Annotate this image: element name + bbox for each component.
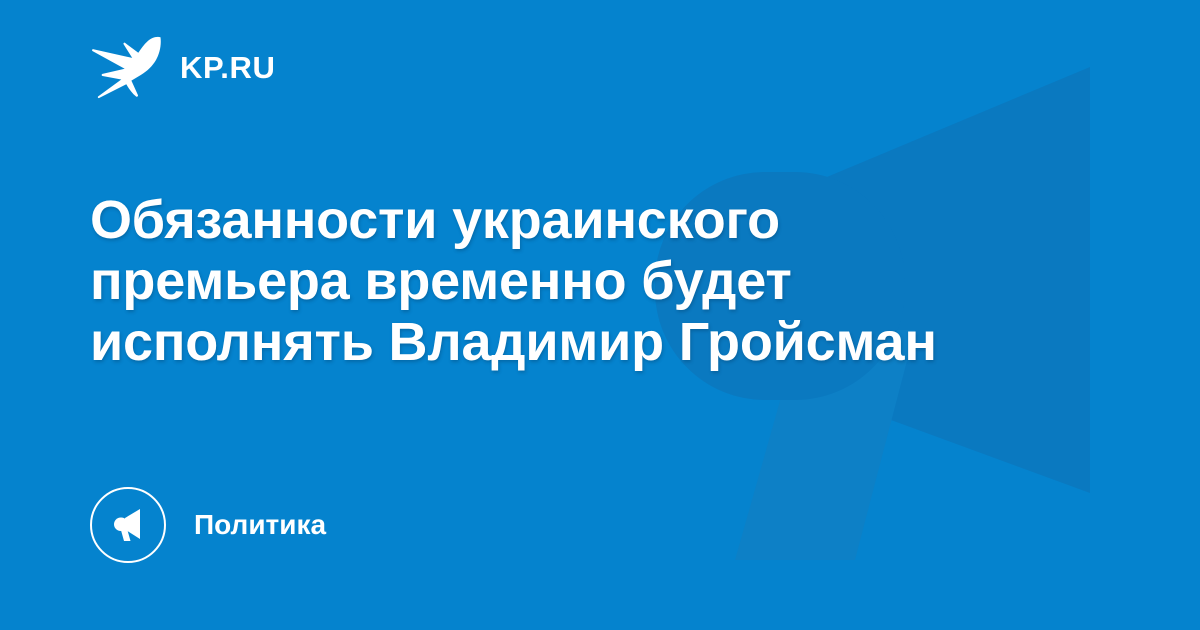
- social-share-card: KP.RU Обязанности украинского премьера в…: [0, 0, 1200, 630]
- brand-name-label: KP.RU: [180, 52, 275, 83]
- megaphone-icon: [108, 505, 148, 545]
- rubric-label: Политика: [194, 511, 326, 539]
- swallow-bird-icon: [90, 34, 162, 100]
- rubric-badge[interactable]: Политика: [90, 485, 326, 565]
- brand-logo[interactable]: KP.RU: [90, 36, 275, 98]
- rubric-icon-circle: [90, 487, 166, 563]
- page-title: Обязанности украинского премьера временн…: [90, 190, 1050, 373]
